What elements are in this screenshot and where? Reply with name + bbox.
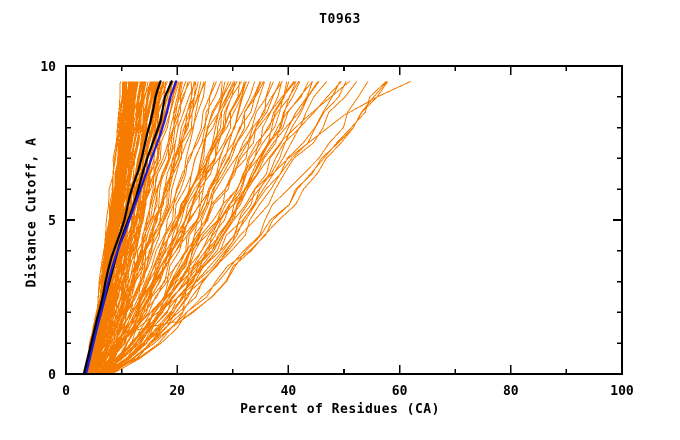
x-tick-label: 80 [503,384,519,399]
plot-area: 0204060801000510 [0,0,680,440]
x-tick-label: 20 [169,384,185,399]
curve-bundle [83,81,410,374]
x-tick-label: 100 [610,384,634,399]
x-axis-label: Percent of Residues (CA) [0,402,680,417]
x-tick-label: 60 [392,384,408,399]
chart-root: T0963 Distance Cutoff, A 020406080100051… [0,0,680,440]
y-tick-label: 5 [48,214,56,229]
x-tick-label: 0 [62,384,70,399]
y-tick-label: 10 [40,60,56,75]
y-tick-label: 0 [48,368,56,383]
x-tick-label: 40 [281,384,297,399]
